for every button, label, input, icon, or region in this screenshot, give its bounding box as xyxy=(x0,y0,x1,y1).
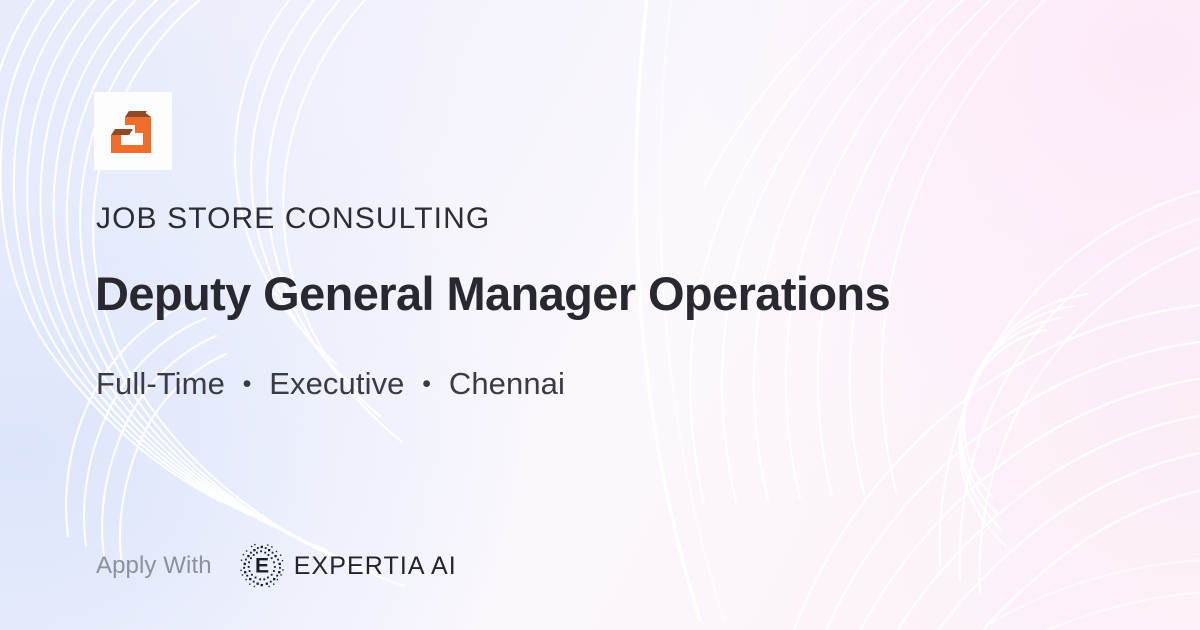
expertia-ai-wordmark: EXPERTIA AI xyxy=(294,552,457,581)
job-store-consulting-logo-icon xyxy=(105,103,161,159)
expertia-logo-letter: E xyxy=(255,555,269,578)
meta-separator-2: • xyxy=(413,370,440,399)
job-employment-type: Full-Time xyxy=(96,366,225,401)
job-posting-card: JOB STORE CONSULTING Deputy General Mana… xyxy=(0,0,1200,630)
expertia-ai-logo-icon: E xyxy=(239,543,285,589)
apply-with-label: Apply With xyxy=(96,552,212,580)
job-meta: Full-Time • Executive • Chennai xyxy=(96,366,565,402)
company-name: JOB STORE CONSULTING xyxy=(96,202,490,236)
job-title: Deputy General Manager Operations xyxy=(95,266,890,321)
job-seniority: Executive xyxy=(269,366,404,401)
apply-with-footer: Apply With xyxy=(96,548,457,584)
expertia-ai-brand[interactable]: E EXPERTIA AI xyxy=(239,543,457,589)
company-logo-tile xyxy=(94,92,172,170)
meta-separator-1: • xyxy=(234,370,261,399)
job-location: Chennai xyxy=(449,366,565,401)
